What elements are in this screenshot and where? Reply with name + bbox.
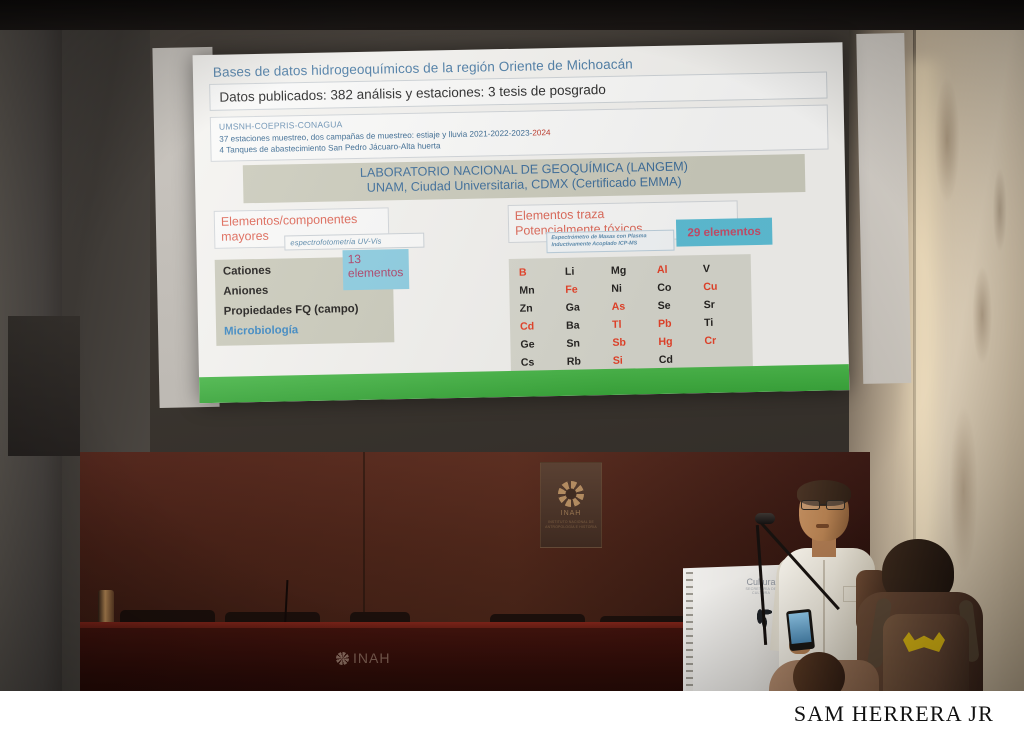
major-count-word: elementos — [348, 266, 404, 281]
element-symbol: Hg — [654, 332, 700, 351]
inah-plaque-label: INAH — [561, 510, 582, 517]
wall-niche — [8, 316, 80, 456]
element-symbol: Zn — [516, 299, 562, 318]
trace-count-badge: 29 elementos — [676, 218, 773, 247]
major-count-badge: 13 elementos — [343, 249, 410, 290]
element-symbol: Sn — [562, 334, 608, 353]
inah-wall-plaque: INAH INSTITUTO NACIONAL DE ANTROPOLOGÍA … — [540, 462, 602, 548]
element-symbol: Mn — [515, 281, 561, 300]
element-symbol: Co — [653, 278, 699, 297]
org-year-highlight: 2024 — [532, 128, 550, 137]
element-symbol: Fe — [561, 280, 607, 299]
element-symbol: Cd — [516, 317, 562, 336]
uv-vis-method-label: espectrofotometría UV-Vis — [284, 233, 424, 251]
element-symbol: Ge — [516, 335, 562, 354]
major-elements-column: Elementos/componentes mayores espectrofo… — [214, 206, 477, 346]
element-symbol: Cr — [700, 331, 746, 350]
element-symbol: Sr — [699, 295, 745, 314]
speaker-mouth — [816, 524, 829, 528]
icpms-line2: Inductivamente Acoplado ICP-MS — [551, 240, 669, 250]
element-symbol: Ti — [700, 313, 746, 332]
organizations-box: UMSNH-COEPRIS-CONAGUA 37 estaciones mues… — [210, 105, 829, 162]
table-inah-label: INAH — [353, 650, 390, 666]
element-symbol: As — [608, 297, 654, 316]
smartphone-screen — [788, 612, 811, 644]
inah-plaque-sublabel: INSTITUTO NACIONAL DE ANTROPOLOGÍA E HIS… — [545, 520, 597, 529]
element-symbol: Cu — [699, 277, 745, 296]
element-table: BLiMgAlVMnFeNiCoCuZnGaAsSeSrCdBaTlPbTiGe… — [509, 254, 753, 378]
element-symbol: V — [699, 259, 745, 278]
photographer-watermark: SAM HERRERA JR — [794, 701, 994, 727]
inah-flower-icon — [558, 481, 584, 507]
slide-columns: Elementos/componentes mayores espectrofo… — [210, 199, 835, 347]
trace-elements-column: Elementos traza Potencialmente tóxicos E… — [508, 199, 831, 341]
presentation-slide: Bases de datos hidrogeoquímicos de la re… — [193, 42, 850, 403]
projection-screen: Bases de datos hidrogeoquímicos de la re… — [156, 14, 864, 420]
element-symbol: Ni — [607, 279, 653, 298]
element-symbol: Se — [654, 296, 700, 315]
icp-ms-method-label: Espectrómetro de Masas con Plasma Induct… — [546, 230, 674, 253]
slide-footer-band — [199, 364, 849, 403]
glasses-icon — [800, 500, 848, 510]
inah-flower-icon — [336, 652, 349, 665]
element-symbol: Mg — [607, 261, 653, 280]
speaker-shirt-seam — [823, 560, 825, 660]
table-inah-logo: INAH — [336, 650, 390, 666]
conference-photo: Bases de datos hidrogeoquímicos de la re… — [0, 0, 1024, 735]
screen-right-panel — [856, 33, 911, 384]
element-symbol: Ga — [562, 298, 608, 317]
element-symbol: Sb — [608, 333, 654, 352]
element-symbol: Ba — [562, 316, 608, 335]
element-symbol: Pb — [654, 314, 700, 333]
microphone-icon — [755, 513, 775, 524]
element-symbol: Al — [653, 260, 699, 279]
element-symbol: Tl — [608, 315, 654, 334]
element-symbol: Li — [561, 262, 607, 281]
list-item: Microbiología — [224, 323, 386, 338]
element-symbol: B — [515, 263, 561, 282]
laboratory-box: LABORATORIO NACIONAL DE GEOQUÍMICA (LANG… — [243, 154, 806, 204]
list-item: Propiedades FQ (campo) — [224, 303, 386, 318]
